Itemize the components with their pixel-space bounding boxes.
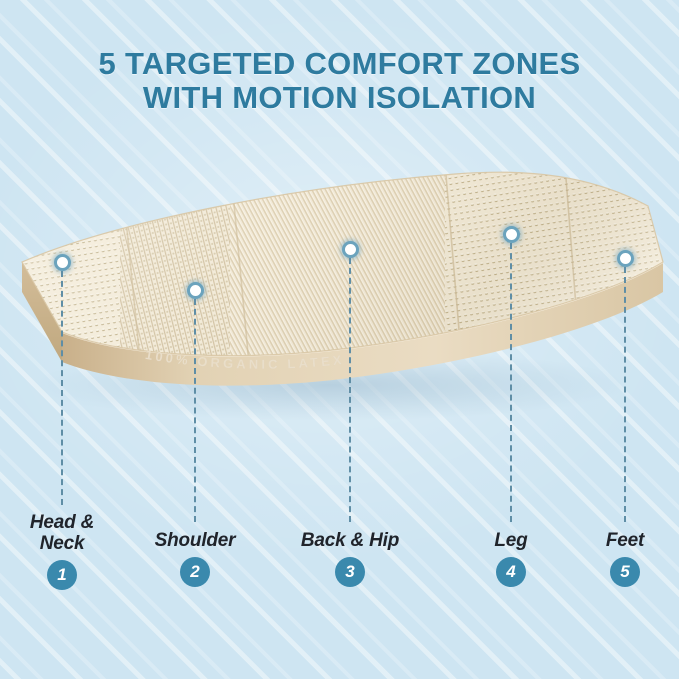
zone-label-2: Shoulder (115, 530, 275, 551)
zone-leader-line-5 (624, 267, 626, 522)
page-title-line-1: 5 TARGETED COMFORT ZONES (0, 47, 679, 81)
zone-label-block-2: Shoulder 2 (115, 530, 275, 587)
zone-marker-2[interactable] (187, 282, 204, 299)
infographic-canvas: 5 TARGETED COMFORT ZONES WITH MOTION ISO… (0, 0, 679, 679)
zone-label-5: Feet (545, 530, 679, 551)
zone-leader-line-2 (194, 299, 196, 522)
zone-badge-1[interactable]: 1 (47, 560, 77, 590)
product-illustration: 100% ORGANIC LATEX 100% ORGANIC LATEX (0, 150, 679, 450)
zone-marker-3[interactable] (342, 241, 359, 258)
page-title: 5 TARGETED COMFORT ZONES WITH MOTION ISO… (0, 47, 679, 115)
zone-marker-1[interactable] (54, 254, 71, 271)
zone-badge-3[interactable]: 3 (335, 557, 365, 587)
zone-badge-2[interactable]: 2 (180, 557, 210, 587)
zone-leader-line-4 (510, 243, 512, 522)
zone-leader-line-3 (349, 258, 351, 522)
zone-badge-5[interactable]: 5 (610, 557, 640, 587)
zone-label-block-5: Feet 5 (545, 530, 679, 587)
zone-leader-line-1 (61, 271, 63, 505)
zone-label-3: Back & Hip (270, 530, 430, 551)
zone-marker-5[interactable] (617, 250, 634, 267)
zone-badge-4[interactable]: 4 (496, 557, 526, 587)
zone-marker-4[interactable] (503, 226, 520, 243)
zone-label-block-3: Back & Hip 3 (270, 530, 430, 587)
page-title-line-2: WITH MOTION ISOLATION (0, 81, 679, 115)
